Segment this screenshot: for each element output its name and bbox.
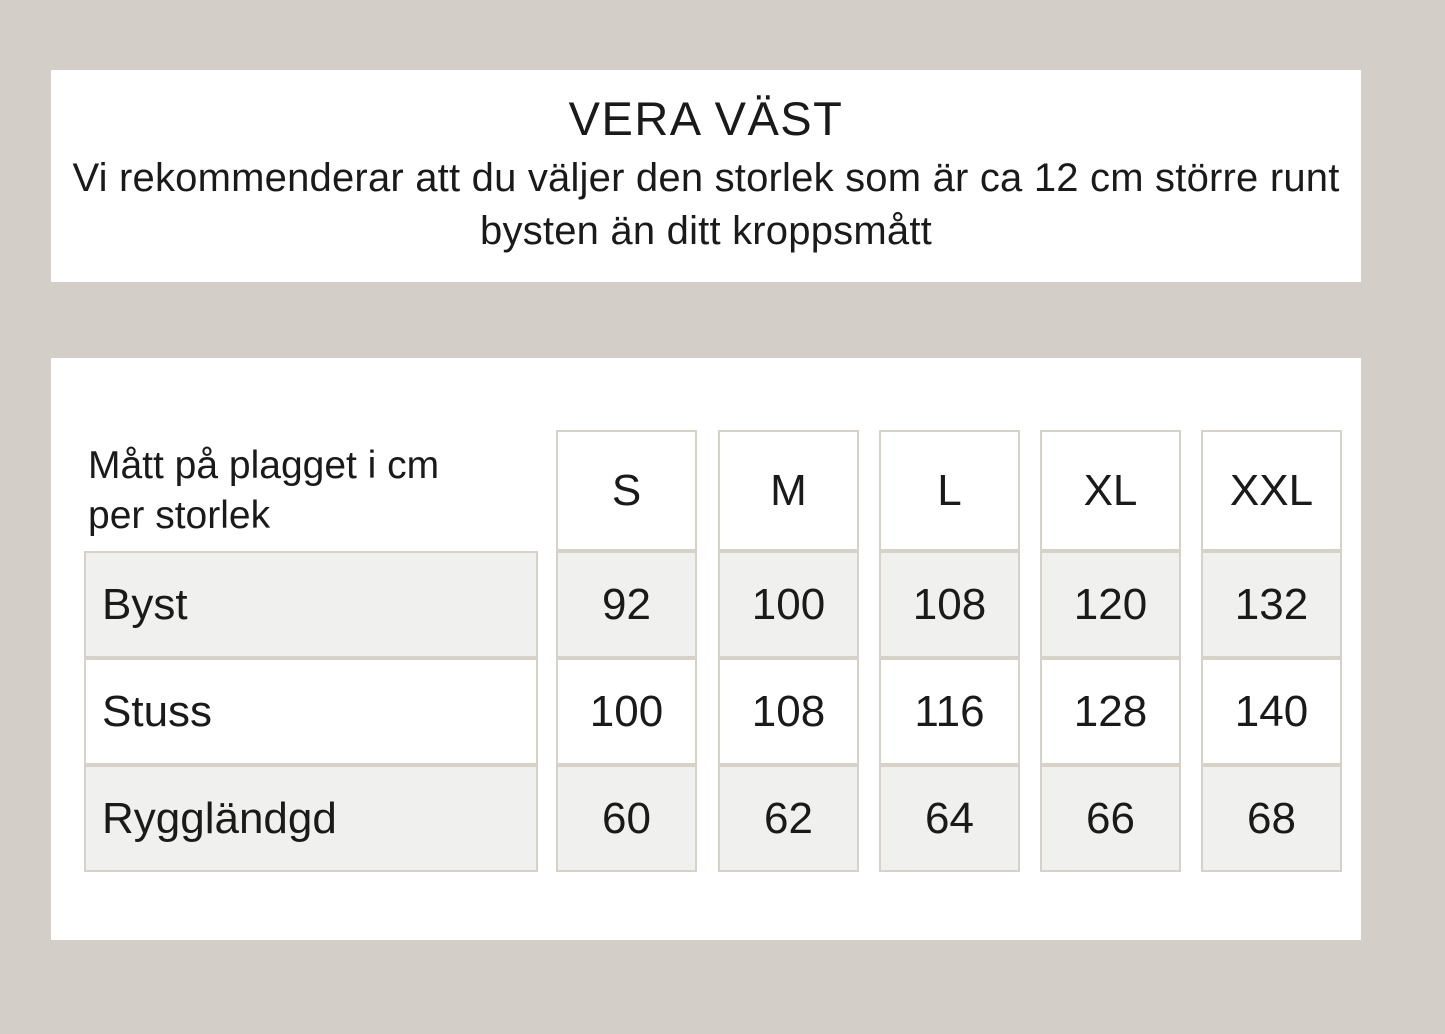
size-column-xl: XL 120 128 66 <box>1040 430 1181 872</box>
cell-stuss-xxl: 140 <box>1201 658 1342 765</box>
size-column-s: S 92 100 60 <box>556 430 697 872</box>
size-header-xxl: XXL <box>1201 430 1342 551</box>
measurement-label-column: Mått på plagget i cm per storlek Byst St… <box>84 430 538 872</box>
row-label-stuss: Stuss <box>84 658 538 765</box>
cell-byst-m: 100 <box>718 551 859 658</box>
size-recommendation-text: Vi rekommenderar att du väljer den storl… <box>51 152 1361 258</box>
cell-rygglangd-xl: 66 <box>1040 765 1181 872</box>
cell-rygglangd-xxl: 68 <box>1201 765 1342 872</box>
cell-stuss-xl: 128 <box>1040 658 1181 765</box>
row-label-byst: Byst <box>84 551 538 658</box>
cell-rygglangd-m: 62 <box>718 765 859 872</box>
row-label-rygglangd: Ryggländgd <box>84 765 538 872</box>
header-card: VERA VÄST Vi rekommenderar att du väljer… <box>51 70 1361 282</box>
size-guide-page: VERA VÄST Vi rekommenderar att du väljer… <box>0 0 1445 1034</box>
cell-byst-l: 108 <box>879 551 1020 658</box>
cell-byst-s: 92 <box>556 551 697 658</box>
size-header-m: M <box>718 430 859 551</box>
cell-byst-xxl: 132 <box>1201 551 1342 658</box>
cell-rygglangd-s: 60 <box>556 765 697 872</box>
size-header-xl: XL <box>1040 430 1181 551</box>
cell-stuss-m: 108 <box>718 658 859 765</box>
size-column-xxl: XXL 132 140 68 <box>1201 430 1342 872</box>
cell-stuss-s: 100 <box>556 658 697 765</box>
size-table: Mått på plagget i cm per storlek Byst St… <box>84 430 1342 871</box>
measurement-column-header-label: Mått på plagget i cm per storlek <box>88 441 488 539</box>
measurement-column-header: Mått på plagget i cm per storlek <box>84 430 538 551</box>
size-column-m: M 100 108 62 <box>718 430 859 872</box>
cell-rygglangd-l: 64 <box>879 765 1020 872</box>
size-header-l: L <box>879 430 1020 551</box>
size-column-l: L 108 116 64 <box>879 430 1020 872</box>
size-header-s: S <box>556 430 697 551</box>
page-title: VERA VÄST <box>569 92 844 146</box>
cell-stuss-l: 116 <box>879 658 1020 765</box>
size-table-card: Mått på plagget i cm per storlek Byst St… <box>51 358 1361 940</box>
cell-byst-xl: 120 <box>1040 551 1181 658</box>
